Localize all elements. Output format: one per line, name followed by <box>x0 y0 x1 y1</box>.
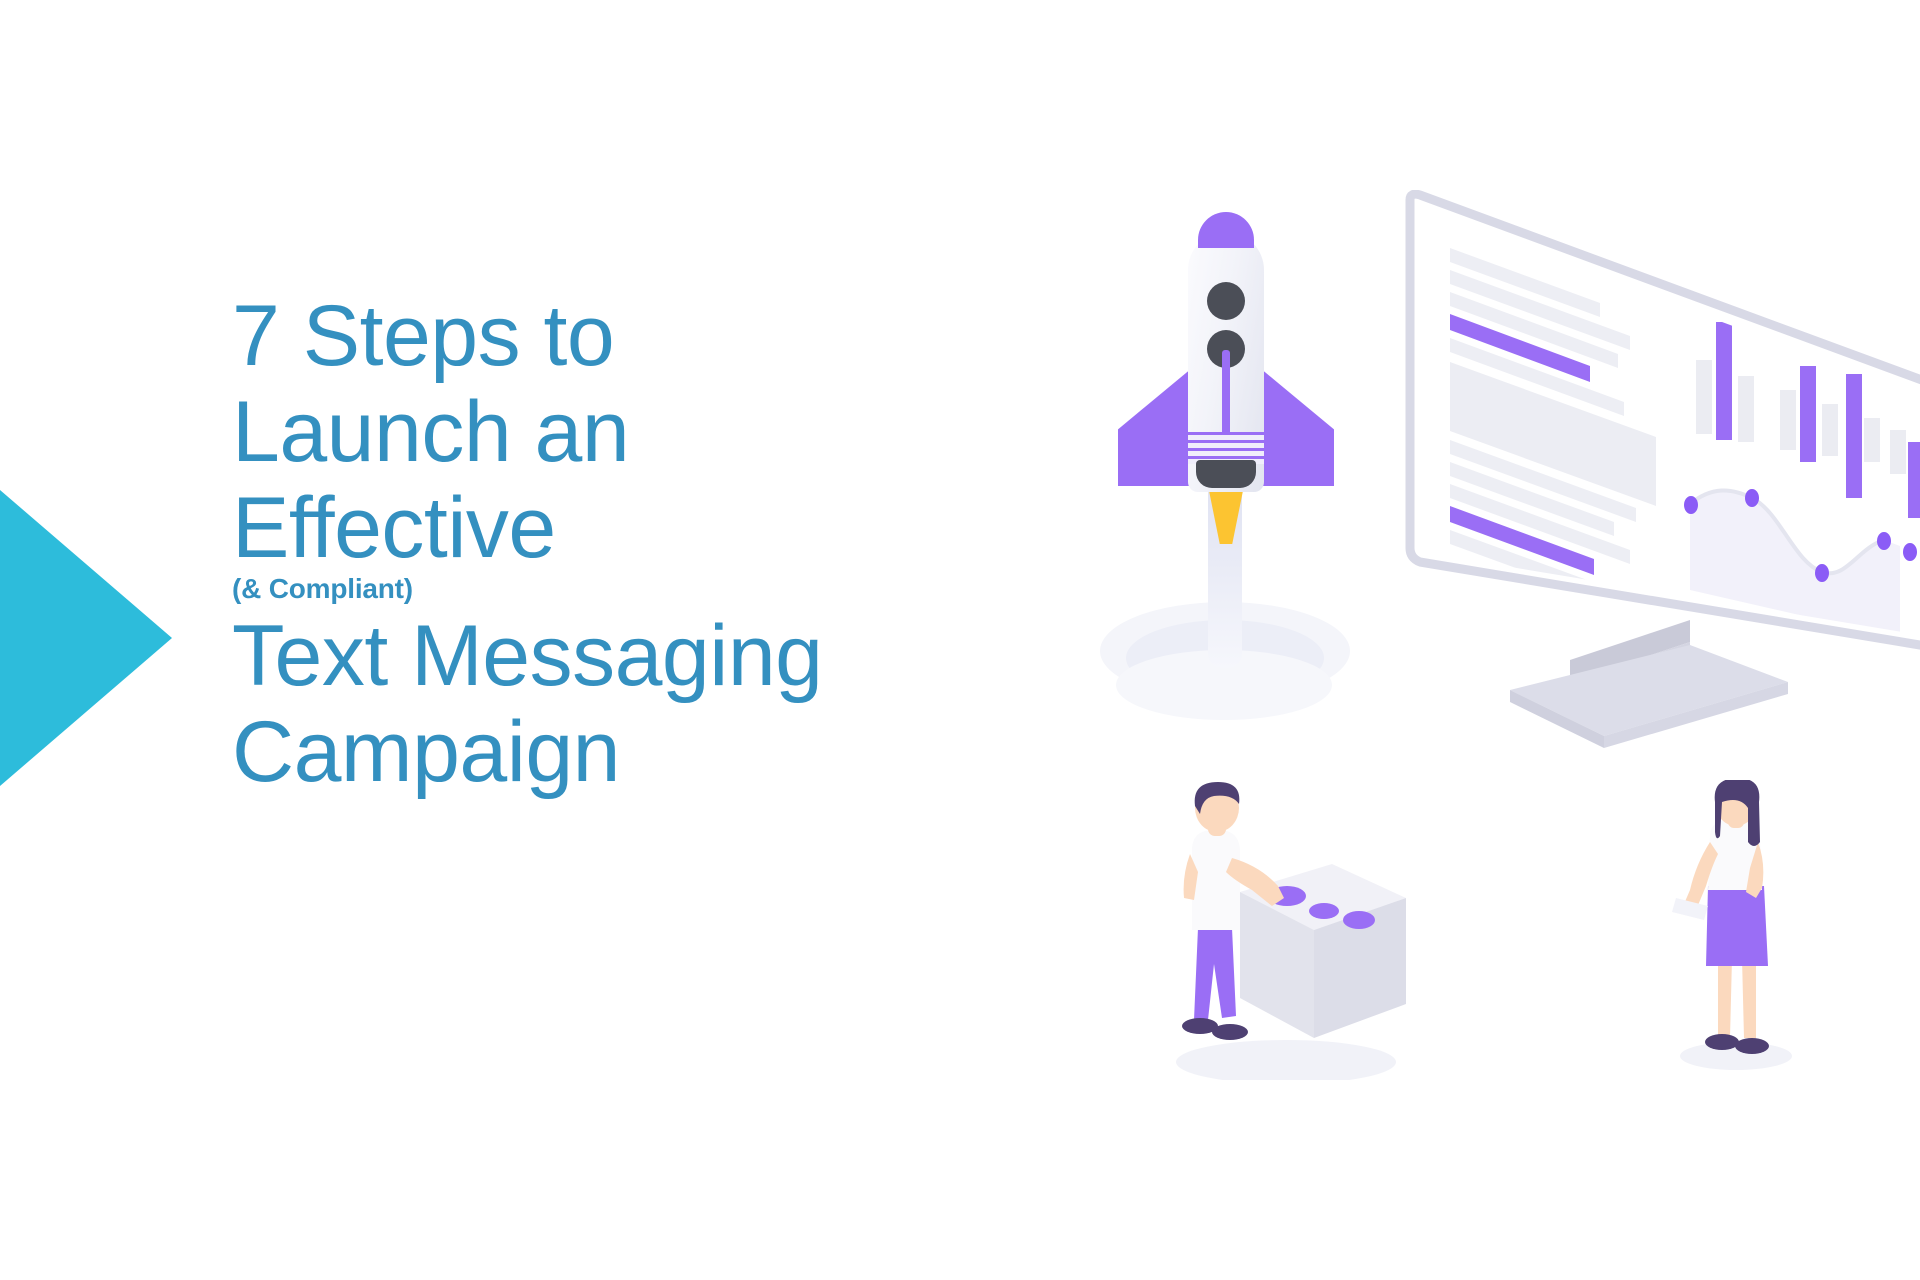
title-line-1: 7 Steps to <box>232 288 1072 384</box>
title-line-2: Launch an <box>232 384 1072 480</box>
man-at-console-group <box>1156 780 1416 1080</box>
console-floor-shadow <box>1176 1040 1396 1080</box>
man-pants <box>1194 928 1236 1020</box>
rocket-fin-left <box>1118 368 1192 486</box>
woman-shoe-right <box>1735 1038 1769 1054</box>
title-line-4: Text Messaging <box>232 608 1072 704</box>
woman-skirt <box>1706 886 1768 966</box>
title-line-3: Effective <box>232 480 1072 576</box>
title-subline-compliant: (& Compliant) <box>232 572 1072 606</box>
rocket-fin-right <box>1260 368 1334 486</box>
woman-shoe-left <box>1705 1034 1739 1050</box>
woman-leg-left <box>1718 958 1732 1038</box>
page-title: 7 Steps to Launch an Effective (& Compli… <box>232 288 1072 800</box>
rocket-porthole-upper <box>1207 282 1245 320</box>
console-button-2 <box>1309 903 1339 919</box>
teal-arrow-marker <box>0 490 172 786</box>
title-line-5: Campaign <box>232 704 1072 800</box>
monitor-illustration <box>1390 190 1920 890</box>
isometric-illustration <box>1060 190 1920 1090</box>
console-button-3 <box>1343 911 1375 929</box>
woman-figure-group <box>1660 780 1820 1080</box>
rocket-engine-nozzle <box>1196 460 1256 488</box>
man-shirt <box>1192 830 1240 930</box>
woman-figure <box>1672 780 1769 1054</box>
monitor-stand <box>1510 620 1788 748</box>
man-shoe-right <box>1212 1024 1248 1040</box>
rocket-nose-cone <box>1198 212 1254 248</box>
woman-leg-right <box>1742 958 1756 1038</box>
poster-canvas: 7 Steps to Launch an Effective (& Compli… <box>0 0 1920 1280</box>
rocket-illustration <box>1100 210 1400 770</box>
